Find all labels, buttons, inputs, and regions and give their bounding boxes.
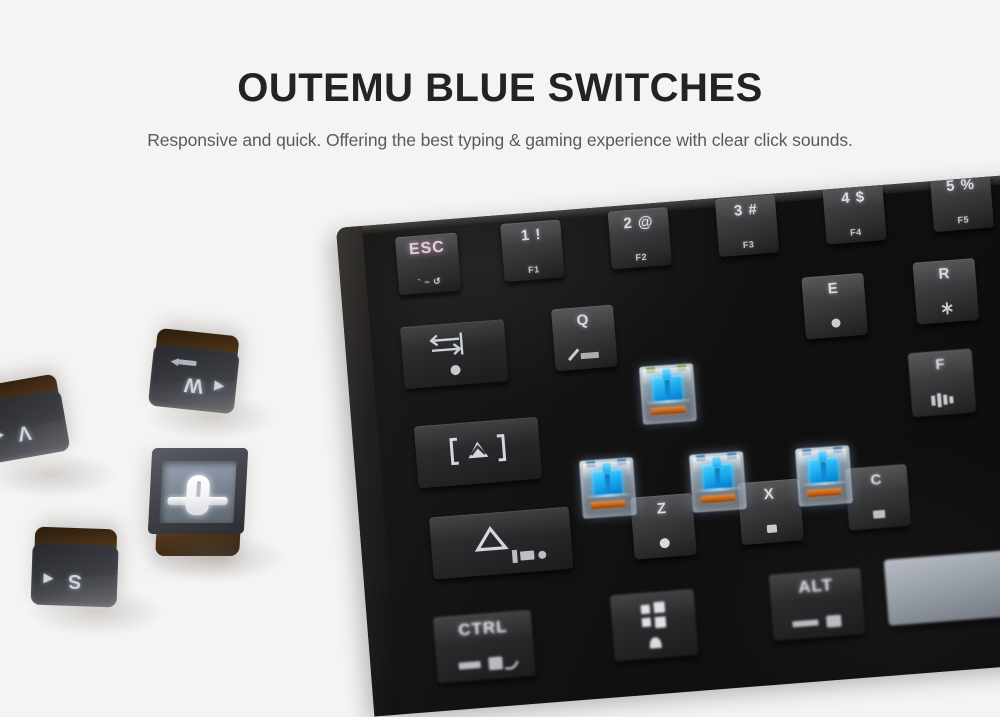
key-alt[interactable]: ALT bbox=[769, 568, 866, 641]
key-tab[interactable] bbox=[400, 319, 509, 389]
key-ctrl-legend: CTRL bbox=[433, 615, 532, 643]
keycap-cavity bbox=[159, 461, 236, 523]
exposed-switch-3 bbox=[689, 451, 747, 513]
switch-copper-leaf bbox=[807, 488, 841, 497]
page-subtitle: Responsive and quick. Offering the best … bbox=[0, 110, 1000, 151]
key-3[interactable]: 3 # F3 bbox=[715, 194, 779, 257]
capslock-icon bbox=[414, 417, 542, 489]
key-windows[interactable] bbox=[610, 589, 699, 661]
keyboard-body: ESC ` ~ ↺ 1 ! F1 2 @ F2 3 # F3 4 $ F4 5 … bbox=[336, 173, 1000, 716]
exposed-switch-1 bbox=[639, 363, 697, 425]
loose-keycap-w-arrow: ◀ bbox=[213, 378, 225, 395]
key-z[interactable]: Z bbox=[630, 493, 697, 560]
keycap-shadow bbox=[146, 534, 286, 582]
loose-keycap-w-sublegend-icon bbox=[168, 355, 199, 370]
exposed-switch-4 bbox=[795, 445, 853, 507]
key-2-sublegend: F2 bbox=[611, 250, 672, 265]
exposed-switch-2 bbox=[579, 457, 637, 519]
key-c-sublegend-icon bbox=[848, 503, 911, 526]
key-r-sublegend-icon bbox=[916, 297, 979, 320]
key-3-sublegend: F3 bbox=[718, 237, 779, 252]
key-2[interactable]: 2 @ F2 bbox=[608, 207, 672, 270]
key-5-sublegend: F5 bbox=[933, 212, 994, 227]
key-e-legend: E bbox=[802, 278, 865, 300]
key-z-legend: Z bbox=[630, 498, 693, 520]
tab-icon bbox=[400, 319, 509, 389]
page-title: OUTEMU BLUE SWITCHES bbox=[0, 0, 1000, 110]
key-5-legend: 5 % bbox=[930, 175, 991, 197]
switch-stem bbox=[702, 463, 734, 490]
switch-copper-leaf bbox=[701, 494, 735, 503]
key-ctrl[interactable]: CTRL bbox=[433, 610, 536, 683]
key-4-legend: 4 $ bbox=[823, 187, 884, 209]
key-2-legend: 2 @ bbox=[608, 212, 669, 234]
key-5[interactable]: 5 % F5 bbox=[930, 173, 994, 232]
key-q-sublegend-icon bbox=[554, 342, 617, 367]
key-r[interactable]: R bbox=[913, 258, 980, 325]
key-z-sublegend-icon bbox=[633, 532, 696, 555]
switch-stem bbox=[652, 375, 684, 402]
switch-copper-leaf bbox=[591, 500, 625, 509]
loose-keycap-v: V ◀ bbox=[0, 367, 71, 465]
key-4-sublegend: F4 bbox=[826, 225, 887, 240]
key-c-legend: C bbox=[845, 469, 908, 491]
keycap-shadow bbox=[28, 588, 164, 636]
key-spacebar[interactable] bbox=[884, 540, 1000, 625]
key-x-legend: X bbox=[738, 483, 801, 505]
key-e[interactable]: E bbox=[801, 273, 868, 340]
key-alt-sublegend-icon bbox=[772, 608, 865, 637]
key-esc[interactable]: ESC ` ~ ↺ bbox=[395, 233, 461, 296]
keycap-stem-mount-vertical bbox=[185, 475, 210, 515]
key-c[interactable]: C bbox=[844, 464, 911, 531]
key-q-legend: Q bbox=[551, 309, 614, 331]
key-f[interactable]: F bbox=[908, 349, 977, 418]
key-1-sublegend: F1 bbox=[504, 262, 565, 277]
switch-stem bbox=[808, 457, 840, 484]
key-4[interactable]: 4 $ F4 bbox=[822, 182, 886, 245]
keyboard-left-bevel bbox=[336, 226, 400, 717]
keycap-shadow bbox=[0, 452, 116, 498]
key-q[interactable]: Q bbox=[551, 305, 618, 372]
key-f-sublegend-icon bbox=[911, 388, 976, 411]
key-e-sublegend-icon bbox=[804, 312, 867, 335]
key-ctrl-sublegend-icon bbox=[436, 650, 535, 680]
header: OUTEMU BLUE SWITCHES Responsive and quic… bbox=[0, 0, 1000, 151]
key-f-legend: F bbox=[908, 354, 973, 376]
key-1[interactable]: 1 ! F1 bbox=[500, 219, 564, 282]
switch-stem bbox=[592, 469, 624, 496]
key-3-legend: 3 # bbox=[715, 199, 776, 221]
key-alt-legend: ALT bbox=[769, 573, 862, 600]
switch-copper-leaf bbox=[651, 406, 685, 415]
key-x-sublegend-icon bbox=[740, 517, 803, 540]
key-esc-legend: ESC bbox=[395, 238, 458, 261]
key-1-legend: 1 ! bbox=[501, 224, 562, 246]
key-capslock[interactable] bbox=[414, 417, 542, 489]
key-shift[interactable] bbox=[429, 507, 573, 580]
keycap-shadow bbox=[146, 394, 276, 440]
key-r-legend: R bbox=[913, 263, 976, 285]
shift-sublegend-icon bbox=[505, 541, 567, 568]
loose-keycap-s-arrow: ◀ bbox=[43, 571, 54, 587]
loose-keycap-v-legend: V bbox=[0, 413, 68, 451]
key-x[interactable]: X bbox=[737, 478, 804, 545]
key-esc-sublegend: ` ~ ↺ bbox=[398, 274, 461, 290]
